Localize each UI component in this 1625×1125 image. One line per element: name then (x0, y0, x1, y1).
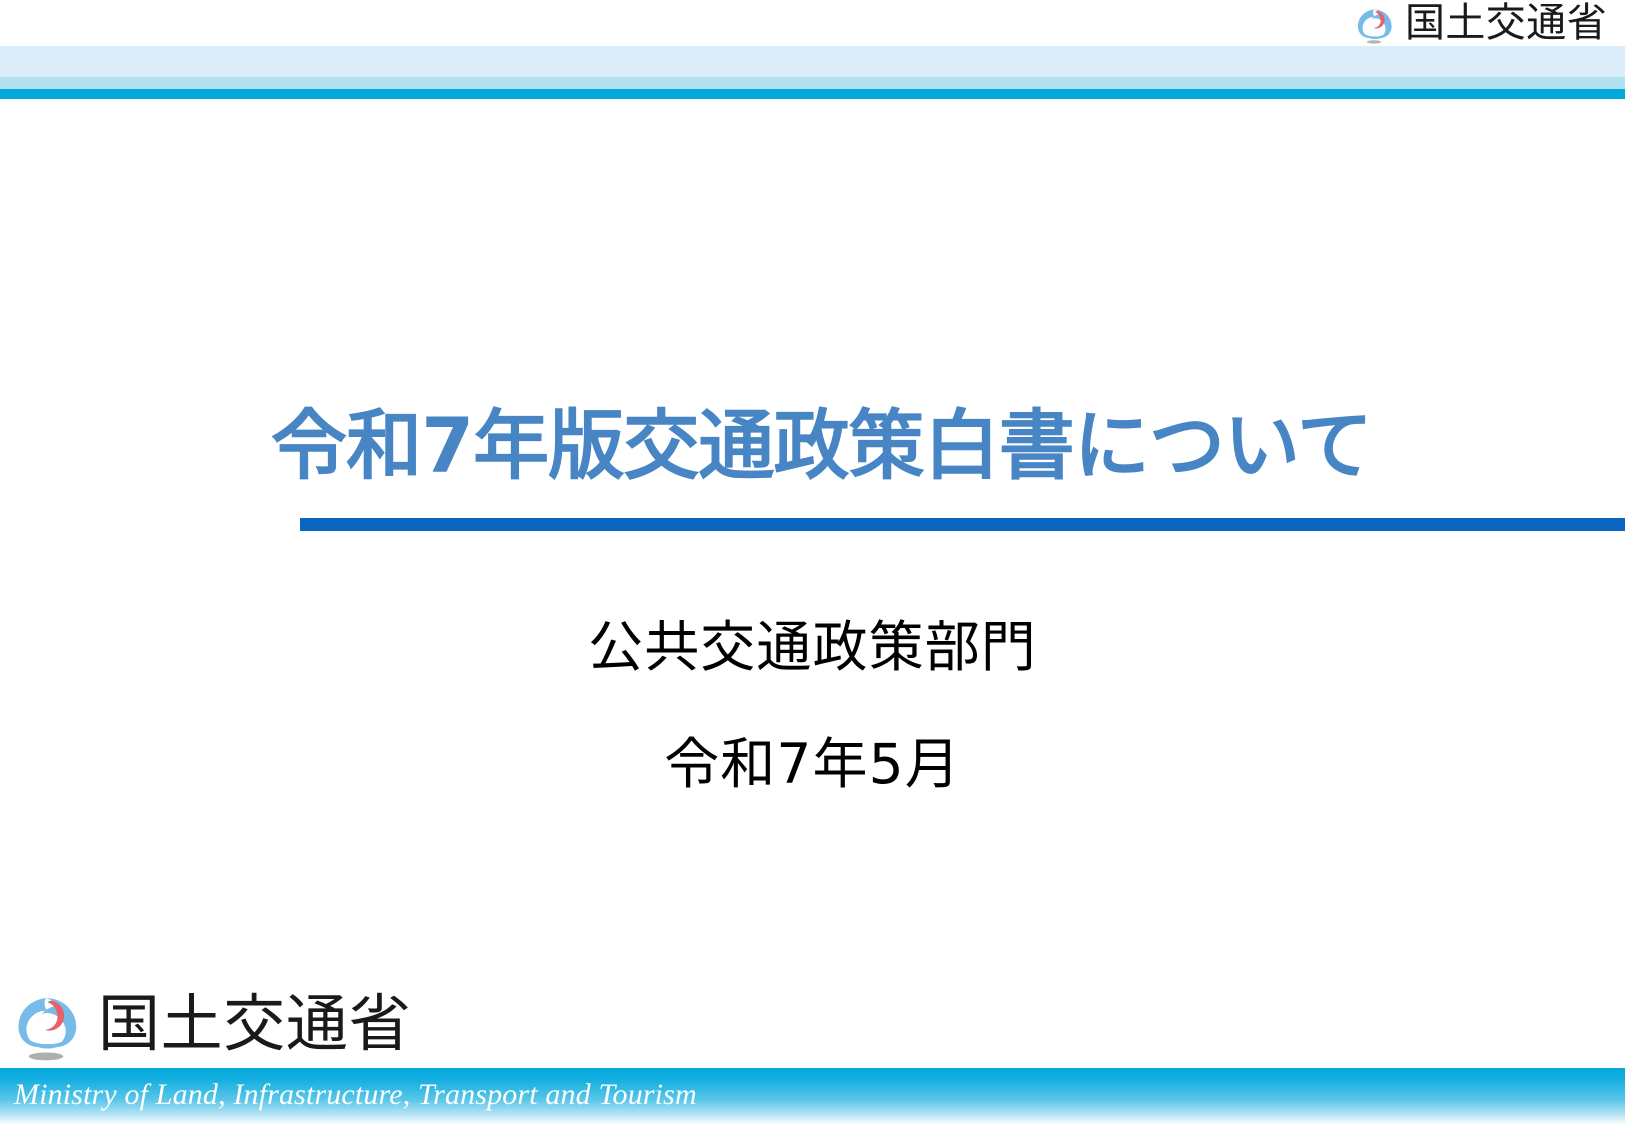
footer-mlit-logo: 国土交通省 (10, 985, 411, 1063)
mlit-swirl-logo-icon (1353, 2, 1395, 44)
footer-gradient-bar: Ministry of Land, Infrastructure, Transp… (0, 1068, 1625, 1125)
subtitle-date: 令和7年5月 (0, 737, 1625, 792)
title-slide: 国土交通省 令和7年版交通政策白書について 公共交通政策部門 令和7年5月 国土… (0, 0, 1625, 1125)
header-mlit-logo-text: 国土交通省 (1405, 3, 1607, 43)
header-band-cyan (0, 89, 1625, 99)
header-band-pale-blue (0, 46, 1625, 77)
subtitle-block: 公共交通政策部門 令和7年5月 (0, 620, 1625, 792)
subtitle-department: 公共交通政策部門 (0, 620, 1625, 675)
footer-mlit-logo-text: 国土交通省 (98, 993, 411, 1055)
header-mlit-logo: 国土交通省 (1353, 2, 1607, 44)
title-underline-rule (300, 518, 1625, 531)
mlit-swirl-logo-icon (10, 985, 82, 1063)
page-title: 令和7年版交通政策白書について (0, 405, 1625, 487)
title-block: 令和7年版交通政策白書について (0, 405, 1625, 487)
footer-english-name: Ministry of Land, Infrastructure, Transp… (14, 1078, 697, 1112)
header-band-light-blue (0, 77, 1625, 89)
